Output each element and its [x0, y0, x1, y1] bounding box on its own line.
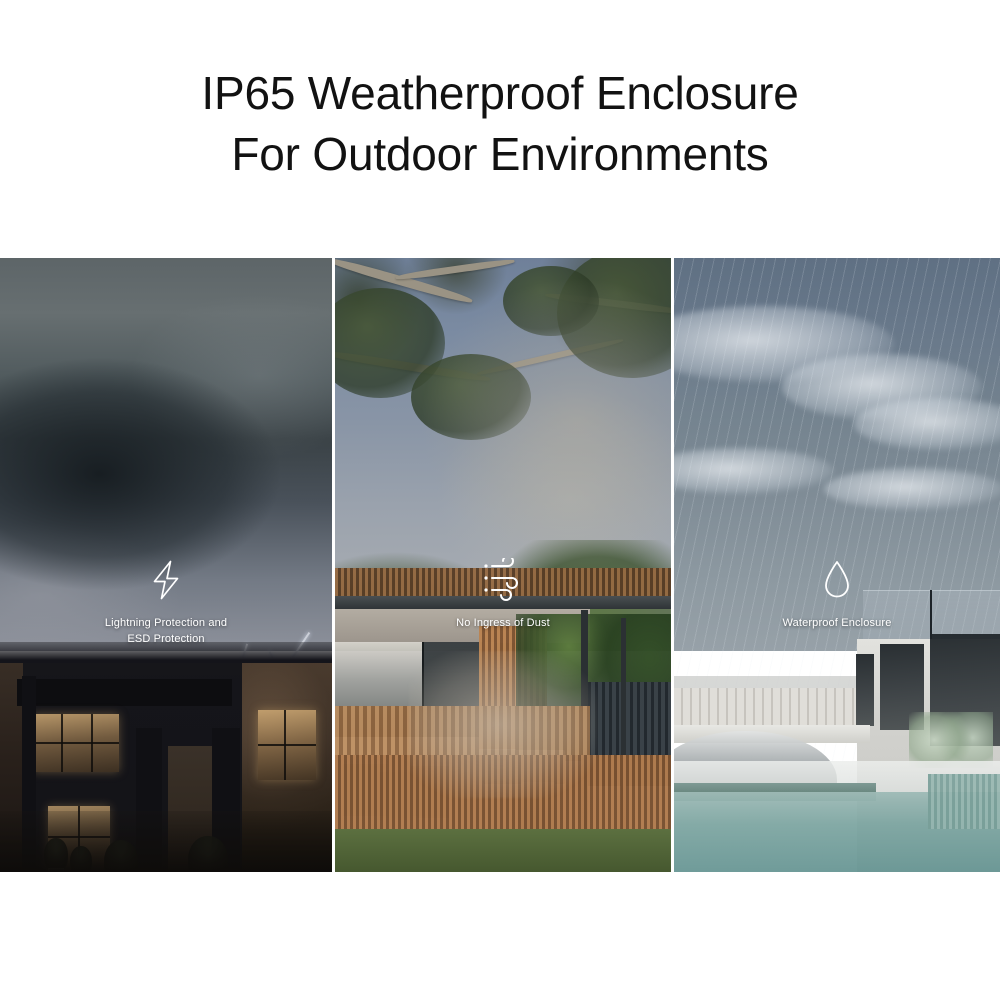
dust-cloud — [409, 651, 597, 798]
page-title-line-2: For Outdoor Environments — [231, 124, 768, 185]
building-glazing-3 — [856, 654, 874, 726]
scene-storm-building — [0, 258, 332, 872]
feature-panel-group: Lightning Protection and ESD Protection — [0, 258, 1000, 872]
storm-sky — [0, 258, 332, 651]
pool-tiles — [928, 774, 1000, 829]
roof-fascia — [335, 596, 671, 610]
scene-rain-rooftop — [674, 258, 1000, 872]
facade-lintel — [17, 679, 233, 707]
upper-timber-cladding — [335, 568, 671, 599]
feature-panel-waterproof[interactable]: Waterproof Enclosure — [674, 258, 1000, 872]
street-ground — [0, 811, 332, 872]
feature-panel-lightning[interactable]: Lightning Protection and ESD Protection — [0, 258, 332, 872]
scene-trees-deck — [335, 258, 671, 872]
lawn — [335, 829, 671, 872]
feature-panel-dust[interactable]: No Ingress of Dust — [335, 258, 671, 872]
rooftop-planter — [909, 712, 994, 767]
city-skyline — [674, 688, 863, 725]
product-feature-banner: IP65 Weatherproof Enclosure For Outdoor … — [0, 0, 1000, 1000]
page-title: IP65 Weatherproof Enclosure For Outdoor … — [0, 0, 1000, 258]
page-title-line-1: IP65 Weatherproof Enclosure — [201, 63, 798, 124]
